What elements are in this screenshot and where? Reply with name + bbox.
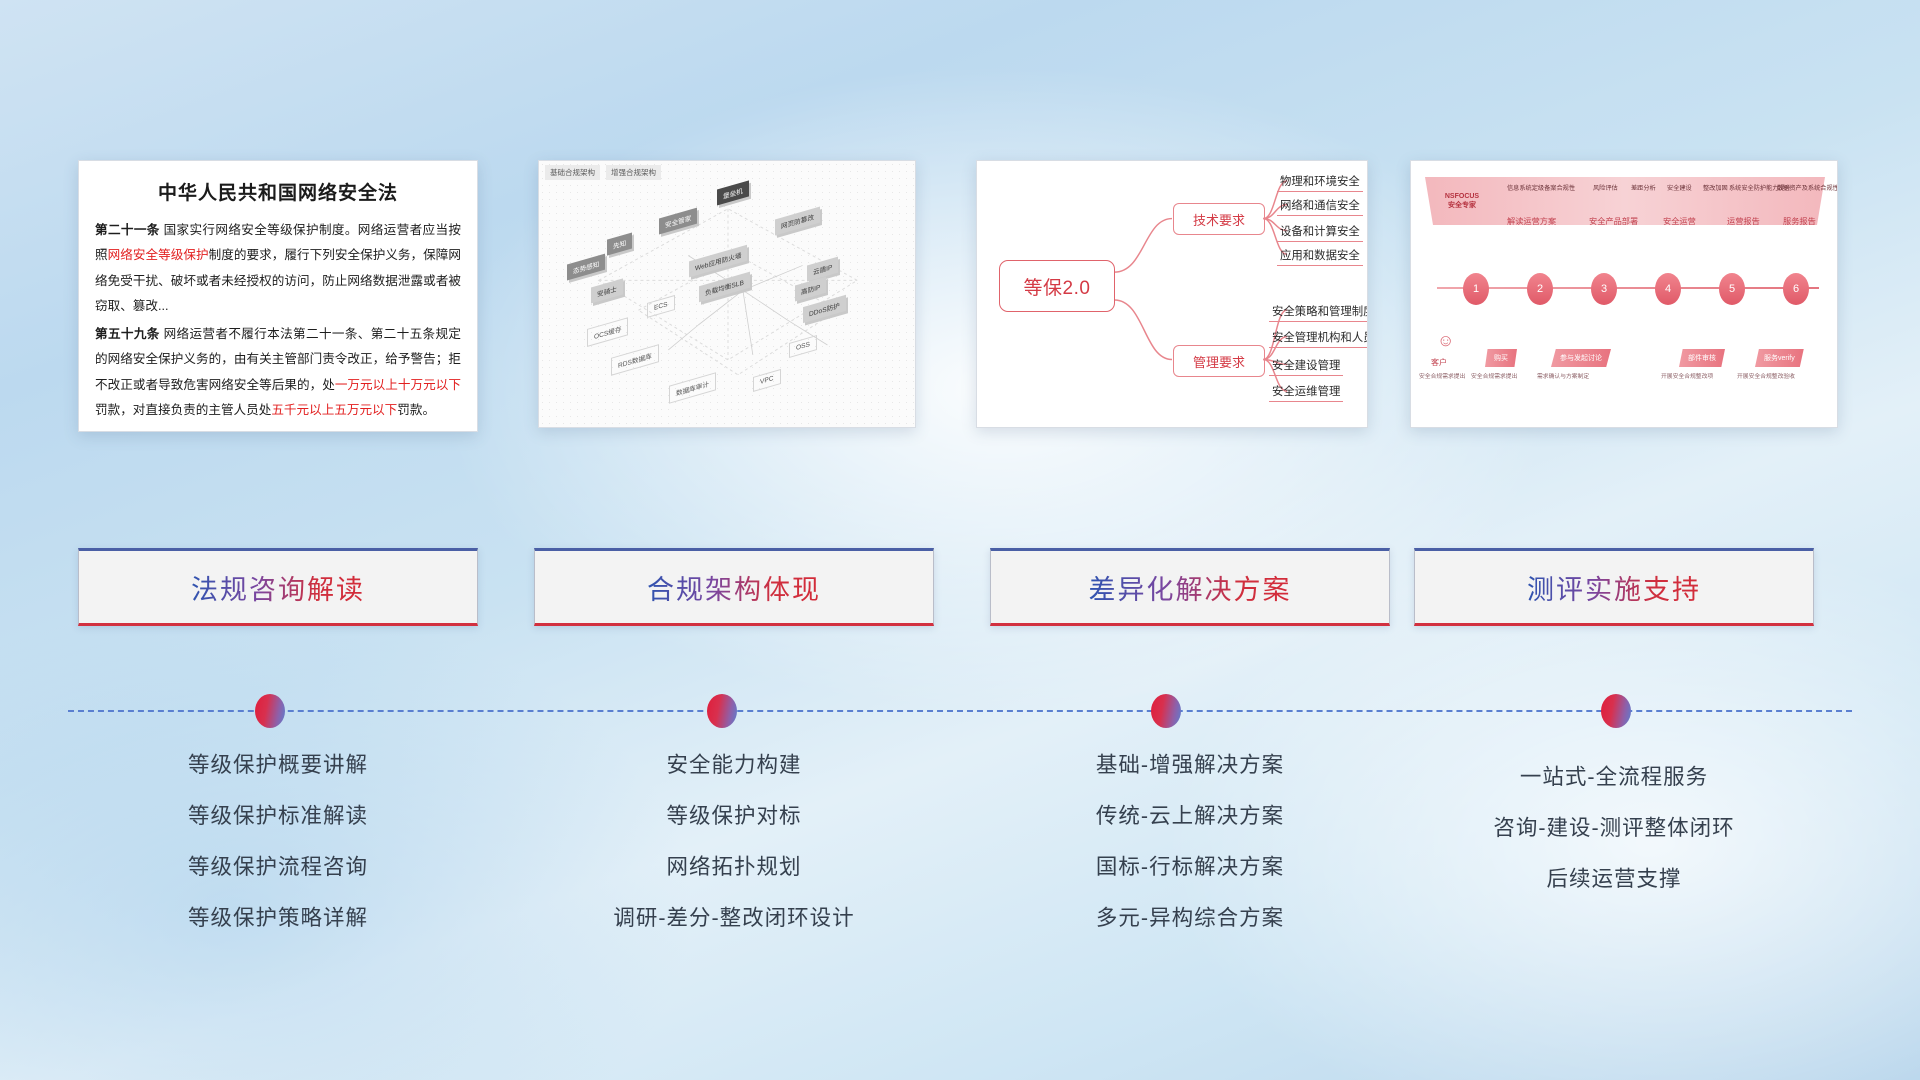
roadmap-top-label-7: 数据资产及系统合规性测评 — [1777, 183, 1838, 192]
law-title: 中华人民共和国网络安全法 — [79, 178, 477, 205]
mindmap-leaf-network: 网络和通信安全 — [1277, 197, 1363, 216]
roadmap-foot-note-2: 需求确认与方案制定 — [1537, 371, 1589, 380]
list-item: 国标-行标解决方案 — [990, 842, 1390, 893]
roadmap-customer-note: 安全合规需求提出 — [1419, 371, 1465, 380]
feature-column-support: 一站式-全流程服务 咨询-建设-测评整体闭环 后续运营支撑 — [1414, 752, 1814, 905]
list-item: 等级保护流程咨询 — [78, 842, 478, 893]
roadmap-top-label-4: 安全建设 — [1667, 183, 1692, 192]
law-article-21-label: 第二十一条 — [95, 223, 160, 237]
preview-card-row: 中华人民共和国网络安全法 第二十一条 国家实行网络安全等级保护制度。网络运营者应… — [0, 160, 1920, 440]
mindmap-leaf-device: 设备和计算安全 — [1277, 223, 1363, 242]
mindmap-branch-technical: 技术要求 — [1173, 203, 1265, 235]
category-button-row: 法规咨询解读 合规架构体现 差异化解决方案 测评实施支持 — [0, 548, 1920, 628]
roadmap-step-1[interactable]: 1 — [1463, 273, 1489, 305]
timeline-dot-2[interactable] — [707, 694, 737, 728]
roadmap-sub-label-3: 安全运营 — [1663, 215, 1696, 227]
list-item: 多元-异构综合方案 — [990, 893, 1390, 944]
roadmap-top-label-1: 信息系统定级备案合规性 — [1507, 183, 1575, 192]
category-button-differentiated-solution[interactable]: 差异化解决方案 — [990, 548, 1390, 626]
timeline-dot-1[interactable] — [255, 694, 285, 728]
roadmap-foot-tag-1: 购买 — [1485, 349, 1517, 367]
timeline-dashed-line — [68, 710, 1852, 712]
roadmap-foot-note-1: 安全合规需求提出 — [1471, 371, 1517, 380]
mindmap-canvas: 等保2.0 技术要求 管理要求 物理和环境安全 网络和通信安全 设备和计算安全 … — [977, 161, 1367, 427]
roadmap-top-label-3: 差距分析 — [1631, 183, 1656, 192]
roadmap-foot-tag-4: 服务verify — [1755, 349, 1804, 367]
feature-column-architecture: 安全能力构建 等级保护对标 网络拓扑规划 调研-差分-整改闭环设计 — [534, 740, 934, 944]
category-button-regulation-consulting[interactable]: 法规咨询解读 — [78, 548, 478, 626]
law-article-59-part2: 罚款，对直接负责的主管人员处 — [95, 403, 271, 417]
list-item: 等级保护概要讲解 — [78, 740, 478, 791]
category-button-label: 合规架构体现 — [647, 568, 821, 607]
roadmap-foot-note-4: 开展安全合规整改验收 — [1737, 371, 1795, 380]
roadmap-sub-label-5: 服务报告 — [1783, 215, 1816, 227]
architecture-tabs: 基础合规架构 增强合规架构 — [545, 165, 661, 180]
list-item: 等级保护标准解读 — [78, 791, 478, 842]
architecture-tab-enhanced[interactable]: 增强合规架构 — [606, 165, 661, 180]
customer-icon: ☺ — [1437, 331, 1454, 351]
list-item: 等级保护策略详解 — [78, 893, 478, 944]
roadmap-foot-tag-2: 参与发起讨论 — [1551, 349, 1611, 367]
roadmap-step-3[interactable]: 3 — [1591, 273, 1617, 305]
roadmap-sub-label-4: 运营报告 — [1727, 215, 1760, 227]
roadmap-brand-name: NSFOCUS — [1445, 192, 1479, 201]
roadmap-sub-label-1: 解读运营方案 — [1507, 215, 1556, 227]
law-article-59-part3: 罚款。 — [397, 403, 435, 417]
law-article-21: 第二十一条 国家实行网络安全等级保护制度。网络运营者应当按照网络安全等级保护制度… — [95, 218, 461, 320]
roadmap-sub-label-2: 安全产品部署 — [1589, 215, 1638, 227]
category-button-compliance-architecture[interactable]: 合规架构体现 — [534, 548, 934, 626]
card-service-roadmap[interactable]: NSFOCUS 安全专家 信息系统定级备案合规性 风险评估 差距分析 安全建设 … — [1410, 160, 1838, 428]
feature-column-solution: 基础-增强解决方案 传统-云上解决方案 国标-行标解决方案 多元-异构综合方案 — [990, 740, 1390, 944]
list-item: 等级保护对标 — [534, 791, 934, 842]
mindmap-leaf-app: 应用和数据安全 — [1277, 247, 1363, 266]
mindmap-root-node: 等保2.0 — [999, 260, 1115, 312]
law-article-21-highlight: 网络安全等级保护 — [108, 248, 209, 262]
list-item: 咨询-建设-测评整体闭环 — [1414, 803, 1814, 854]
timeline-dot-3[interactable] — [1151, 694, 1181, 728]
card-architecture-diagram[interactable]: 基础合规架构 增强合规架构 堡垒机 安全管家 先知 — [538, 160, 916, 428]
roadmap-foot-note-3: 开展安全合规整改项 — [1661, 371, 1713, 380]
list-item: 网络拓扑规划 — [534, 842, 934, 893]
roadmap-step-4[interactable]: 4 — [1655, 273, 1681, 305]
architecture-canvas: 基础合规架构 增强合规架构 堡垒机 安全管家 先知 — [539, 161, 915, 427]
roadmap-step-6[interactable]: 6 — [1783, 273, 1809, 305]
list-item: 一站式-全流程服务 — [1414, 752, 1814, 803]
roadmap-brand-subtitle: 安全专家 — [1448, 201, 1476, 210]
roadmap-top-label-2: 风险评估 — [1593, 183, 1618, 192]
roadmap-top-label-5: 整改加固 — [1703, 183, 1728, 192]
list-item: 后续运营支撑 — [1414, 854, 1814, 905]
card-mindmap[interactable]: 等保2.0 技术要求 管理要求 物理和环境安全 网络和通信安全 设备和计算安全 … — [976, 160, 1368, 428]
list-item: 基础-增强解决方案 — [990, 740, 1390, 791]
law-body: 第二十一条 国家实行网络安全等级保护制度。网络运营者应当按照网络安全等级保护制度… — [79, 218, 477, 424]
category-button-label: 法规咨询解读 — [191, 568, 365, 607]
mindmap-leaf-build: 安全建设管理 — [1269, 357, 1343, 376]
category-button-label: 测评实施支持 — [1527, 568, 1701, 607]
law-article-59-highlight-2: 五千元以上五万元以下 — [271, 403, 397, 417]
law-article-59: 第五十九条 网络运营者不履行本法第二十一条、第二十五条规定的网络安全保护义务的，… — [95, 322, 461, 424]
list-item: 传统-云上解决方案 — [990, 791, 1390, 842]
roadmap-step-5[interactable]: 5 — [1719, 273, 1745, 305]
mindmap-leaf-policy: 安全策略和管理制度 — [1269, 303, 1368, 322]
law-article-59-label: 第五十九条 — [95, 327, 160, 341]
roadmap-canvas: NSFOCUS 安全专家 信息系统定级备案合规性 风险评估 差距分析 安全建设 … — [1411, 161, 1837, 427]
card-law-text[interactable]: 中华人民共和国网络安全法 第二十一条 国家实行网络安全等级保护制度。网络运营者应… — [78, 160, 478, 432]
roadmap-axis-line — [1437, 287, 1819, 289]
mindmap-leaf-ops: 安全运维管理 — [1269, 383, 1343, 402]
roadmap-brand-logo: NSFOCUS 安全专家 — [1431, 181, 1493, 221]
architecture-tab-basic[interactable]: 基础合规架构 — [545, 165, 600, 180]
mindmap-branch-management: 管理要求 — [1173, 345, 1265, 377]
roadmap-customer-title: 客户 — [1431, 357, 1447, 368]
roadmap-step-2[interactable]: 2 — [1527, 273, 1553, 305]
timeline-dot-4[interactable] — [1601, 694, 1631, 728]
feature-column-row: 等级保护概要讲解 等级保护标准解读 等级保护流程咨询 等级保护策略详解 安全能力… — [0, 740, 1920, 990]
list-item: 调研-差分-整改闭环设计 — [534, 893, 934, 944]
mindmap-leaf-org: 安全管理机构和人员 — [1269, 329, 1368, 348]
category-button-evaluation-support[interactable]: 测评实施支持 — [1414, 548, 1814, 626]
mindmap-leaf-physical: 物理和环境安全 — [1277, 173, 1363, 192]
list-item: 安全能力构建 — [534, 740, 934, 791]
feature-column-regulation: 等级保护概要讲解 等级保护标准解读 等级保护流程咨询 等级保护策略详解 — [78, 740, 478, 944]
category-button-label: 差异化解决方案 — [1089, 568, 1292, 607]
timeline — [0, 694, 1920, 728]
law-article-59-highlight-1: 一万元以上十万元以下 — [335, 378, 461, 392]
roadmap-foot-tag-3: 部件审核 — [1679, 349, 1725, 367]
